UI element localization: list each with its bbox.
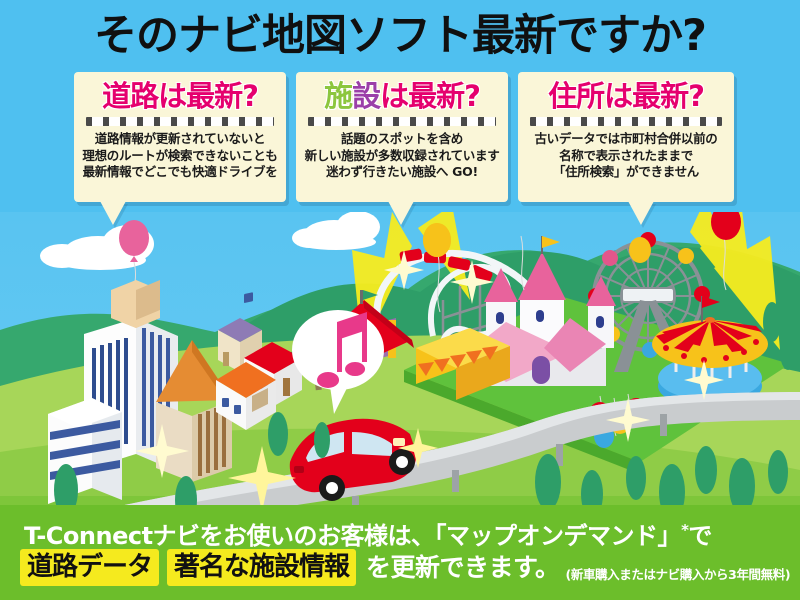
bottom-banner: T-Connectナビをお使いのお客様は、「マップオンデマンド」*で 道路データ… <box>0 505 800 600</box>
card-facility-title-part-1: 施 <box>324 79 352 113</box>
feature-cards: 道路は最新? 道路情報が更新されていないと 理想のルートが検索できないことも 最… <box>0 72 800 208</box>
card-address-line-1: 古いデータでは市町村合併以前の <box>524 131 728 148</box>
card-address-line-2: 名称で表示されたままで <box>524 148 728 165</box>
card-address-tail <box>628 201 654 225</box>
banner-subline: 道路データ 著名な施設情報 を更新できます。 (新車購入またはナビ購入から3年間… <box>20 549 790 586</box>
card-facility-line-3: 迷わず行きたい施設へ GO! <box>302 164 502 181</box>
card-facility-tail <box>388 201 414 225</box>
card-facility-line-1: 話題のスポットを含め <box>302 131 502 148</box>
banner-headline-suffix: で <box>688 522 712 550</box>
card-road: 道路は最新? 道路情報が更新されていないと 理想のルートが検索できないことも 最… <box>74 72 286 202</box>
banner-fine-print: (新車購入またはナビ購入から3年間無料) <box>566 567 791 586</box>
card-facility-title: 施設は最新? <box>302 78 502 114</box>
card-road-title-text: 道路は最新? <box>102 79 258 113</box>
card-road-body: 道路情報が更新されていないと 理想のルートが検索できないことも 最新情報でどこで… <box>80 131 280 181</box>
card-road-line-1: 道路情報が更新されていないと <box>80 131 280 148</box>
card-facility-title-part-3: は最新? <box>380 79 480 113</box>
banner-headline-text: T-Connectナビをお使いのお客様は、「マップオンデマンド」 <box>24 522 681 550</box>
card-road-title: 道路は最新? <box>80 78 280 114</box>
banner-update-text: を更新できます。 <box>366 553 560 583</box>
page-title: そのナビ地図ソフト最新ですか? <box>0 8 800 64</box>
road-divider-icon <box>86 117 274 126</box>
card-road-line-2: 理想のルートが検索できないことも <box>80 148 280 165</box>
chip-facility-info: 著名な施設情報 <box>167 549 356 586</box>
card-facility: 施設は最新? 話題のスポットを含め 新しい施設が多数収録されています 迷わず行き… <box>296 72 508 202</box>
chip-road-data: 道路データ <box>20 549 159 586</box>
banner-headline: T-Connectナビをお使いのお客様は、「マップオンデマンド」*で <box>24 515 712 551</box>
card-facility-title-part-2: 設 <box>352 79 380 113</box>
card-address-body: 古いデータでは市町村合併以前の 名称で表示されたままで 「住所検索」ができません <box>524 131 728 181</box>
road-divider-icon <box>308 117 496 126</box>
card-address: 住所は最新? 古いデータでは市町村合併以前の 名称で表示されたままで 「住所検索… <box>518 72 734 202</box>
advertisement-canvas: そのナビ地図ソフト最新ですか? 道路は最新? 道路情報が更新されていないと 理想… <box>0 0 800 600</box>
road-divider-icon <box>530 117 722 126</box>
card-address-line-3: 「住所検索」ができません <box>524 164 728 181</box>
card-road-line-3: 最新情報でどこでも快適ドライブを <box>80 164 280 181</box>
card-facility-line-2: 新しい施設が多数収録されています <box>302 148 502 165</box>
card-facility-body: 話題のスポットを含め 新しい施設が多数収録されています 迷わず行きたい施設へ G… <box>302 131 502 181</box>
card-address-title-text: 住所は最新? <box>548 79 704 113</box>
card-address-title: 住所は最新? <box>524 78 728 114</box>
card-road-tail <box>100 201 126 225</box>
